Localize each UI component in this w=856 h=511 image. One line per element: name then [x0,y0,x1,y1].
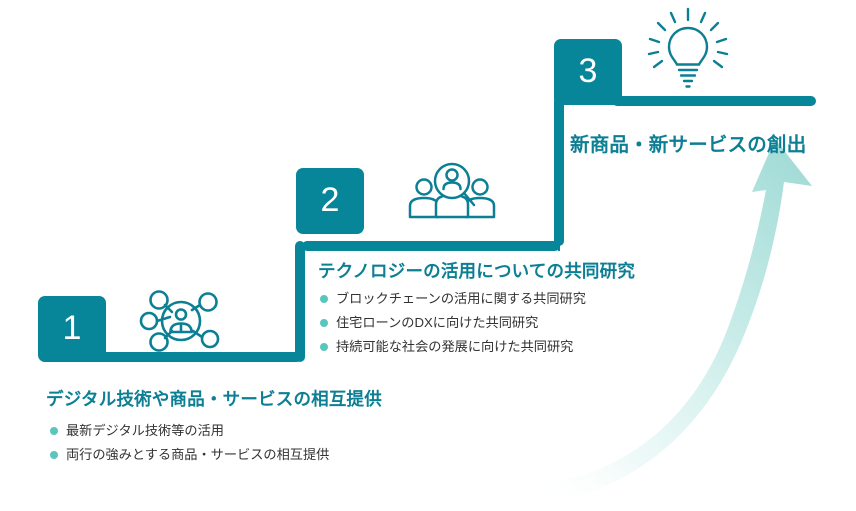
bullet-dot-icon [50,451,58,459]
riser-1-to-3 [295,241,305,362]
step-bullets-1: 最新デジタル技術等の活用 両行の強みとする商品・サービスの相互提供 [50,424,329,461]
bullet-text: 最新デジタル技術等の活用 [66,424,224,437]
bullet-dot-icon [320,319,328,327]
step-heading-1: デジタル技術や商品・サービスの相互提供 [46,386,382,411]
bullet-item: ブロックチェーンの活用に関する共同研究 [320,292,586,305]
bullet-item: 持続可能な社会の発展に向けた共同研究 [320,340,586,353]
step-badge-1: 1 [38,296,106,362]
tread-step-3 [612,96,816,106]
network-person-icon [124,287,230,355]
step-number-2: 2 [321,183,340,217]
bullet-text: 両行の強みとする商品・サービスの相互提供 [66,448,329,461]
bullet-item: 最新デジタル技術等の活用 [50,424,329,437]
step-badge-2: 2 [296,168,364,234]
tread-step-2-main [302,241,560,251]
infographic-canvas: 1 デジタル技術や商 [0,0,856,511]
step-number-1: 1 [63,311,82,345]
step-badge-3: 3 [554,39,622,105]
step-number-3: 3 [579,54,598,88]
bullet-dot-icon [320,343,328,351]
bullet-text: ブロックチェーンの活用に関する共同研究 [336,292,586,305]
bullet-dot-icon [320,295,328,303]
step-heading-2: テクノロジーの活用についての共同研究 [318,258,635,283]
bullet-item: 両行の強みとする商品・サービスの相互提供 [50,448,329,461]
bullet-item: 住宅ローンのDXに向けた共同研究 [320,316,586,329]
step-bullets-2: ブロックチェーンの活用に関する共同研究 住宅ローンのDXに向けた共同研究 持続可… [320,292,586,354]
lightbulb-idea-icon [644,6,732,96]
riser-2-to-3 [554,96,564,246]
bullet-text: 持続可能な社会の発展に向けた共同研究 [336,340,573,353]
step-heading-3: 新商品・新サービスの創出 [570,128,806,157]
bullet-text: 住宅ローンのDXに向けた共同研究 [336,316,538,329]
people-group-search-icon [404,159,504,229]
bullet-dot-icon [50,427,58,435]
